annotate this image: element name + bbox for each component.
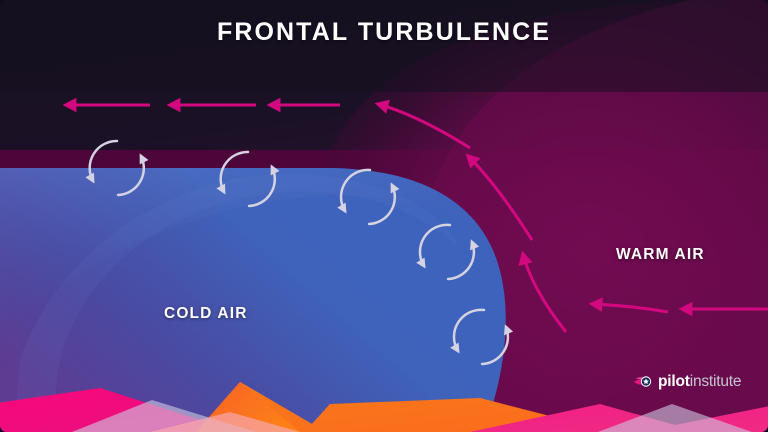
page-title: FRONTAL TURBULENCE: [0, 18, 768, 47]
pilot-institute-logo[interactable]: pilotinstitute: [634, 372, 741, 391]
logo-wordmark: pilotinstitute: [658, 374, 741, 390]
frontal-turbulence-illustration: FRONTAL TURBULENCE COLD AIR WARM AIR pil…: [0, 0, 768, 432]
cold-air-label: COLD AIR: [164, 305, 248, 323]
pilot-institute-winged-star-icon: [634, 372, 653, 391]
weather-scene-canvas: [0, 0, 768, 432]
logo-wordmark-bold: pilot: [658, 373, 690, 390]
warm-air-label: WARM AIR: [616, 246, 705, 264]
logo-wordmark-light: institute: [690, 373, 742, 390]
